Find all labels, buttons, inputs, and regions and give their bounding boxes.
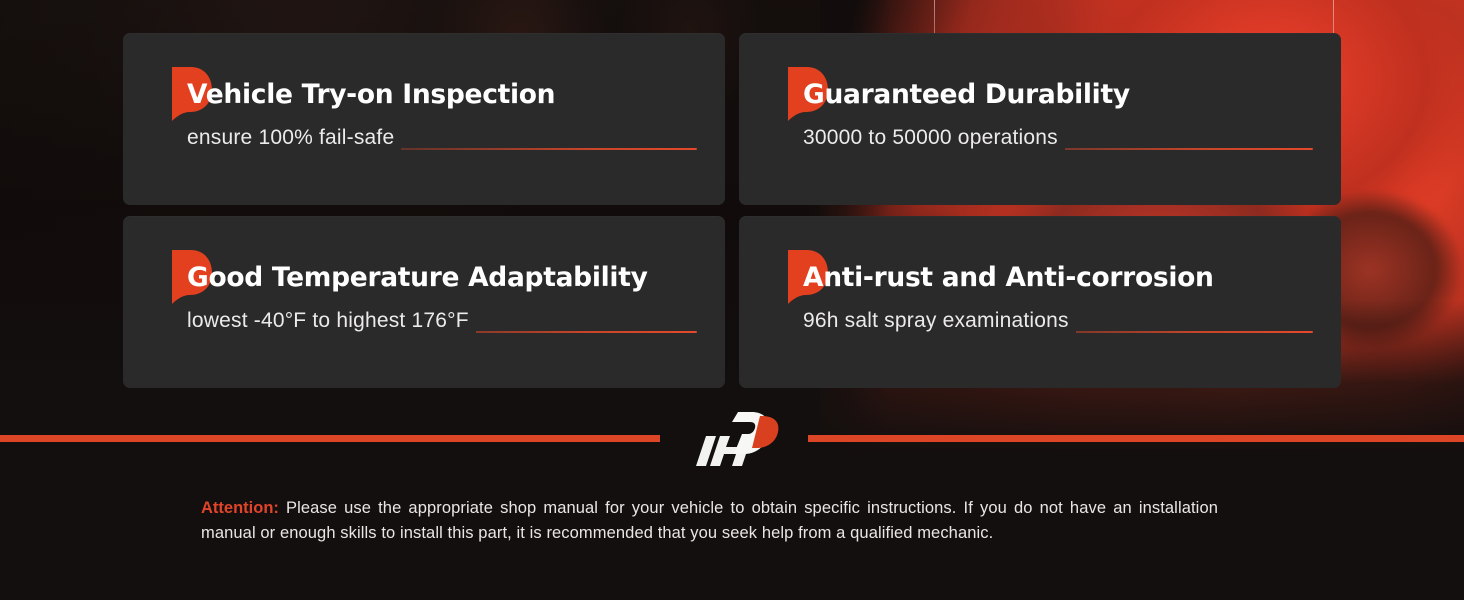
feature-card: Anti-rust and Anti-corrosion 96h salt sp…	[739, 216, 1341, 388]
feature-card-content: Vehicle Try-on Inspection ensure 100% fa…	[187, 81, 695, 151]
feature-card-grid: Vehicle Try-on Inspection ensure 100% fa…	[123, 33, 1341, 388]
attention-body: Please use the appropriate shop manual f…	[201, 499, 1218, 542]
feature-card-content: Guaranteed Durability 30000 to 50000 ope…	[803, 81, 1311, 151]
feature-title: Vehicle Try-on Inspection	[187, 81, 695, 109]
attention-label: Attention:	[201, 499, 279, 517]
feature-subtitle: 96h salt spray examinations	[803, 308, 1076, 334]
feature-subtitle-row: 96h salt spray examinations	[803, 308, 1311, 334]
feature-card: Guaranteed Durability 30000 to 50000 ope…	[739, 33, 1341, 205]
feature-card-content: Anti-rust and Anti-corrosion 96h salt sp…	[803, 264, 1311, 334]
feature-subtitle: ensure 100% fail-safe	[187, 125, 401, 151]
feature-subtitle-row: ensure 100% fail-safe	[187, 125, 695, 151]
feature-card-content: Good Temperature Adaptability lowest -40…	[187, 264, 695, 334]
feature-subtitle-row: lowest -40°F to highest 176°F	[187, 308, 695, 334]
feature-title: Good Temperature Adaptability	[187, 264, 695, 292]
feature-title: Guaranteed Durability	[803, 81, 1311, 109]
attention-note: Attention: Please use the appropriate sh…	[201, 496, 1218, 545]
feature-subtitle-row: 30000 to 50000 operations	[803, 125, 1311, 151]
feature-card: Vehicle Try-on Inspection ensure 100% fa…	[123, 33, 725, 205]
feature-card: Good Temperature Adaptability lowest -40…	[123, 216, 725, 388]
feature-subtitle: 30000 to 50000 operations	[803, 125, 1065, 151]
product-feature-banner: Vehicle Try-on Inspection ensure 100% fa…	[0, 0, 1464, 600]
feature-title: Anti-rust and Anti-corrosion	[803, 264, 1311, 292]
brand-logo-icon	[676, 404, 796, 470]
feature-subtitle: lowest -40°F to highest 176°F	[187, 308, 476, 334]
